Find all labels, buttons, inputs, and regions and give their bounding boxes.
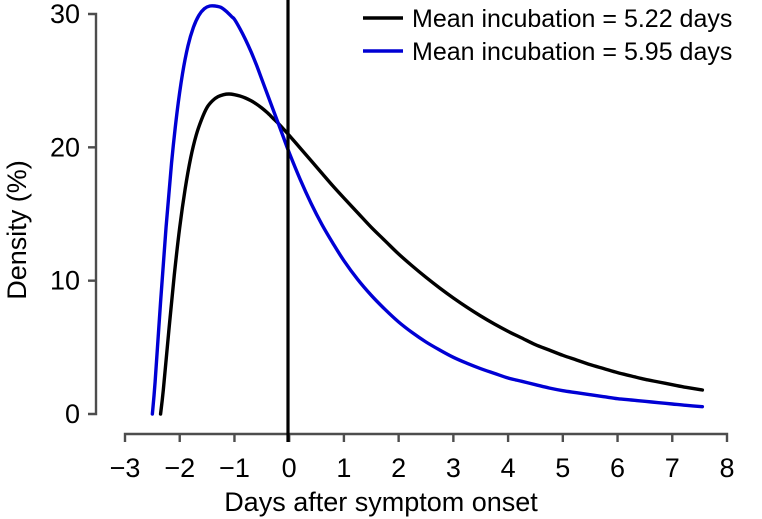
chart-canvas: 0102030 −3−2−1012345678 Days after sympt… — [0, 0, 762, 519]
y-axis-title: Density (%) — [2, 160, 32, 300]
x-axis-tick-label-0: 0 — [282, 453, 297, 483]
x-axis-tick-label--1: −1 — [219, 453, 250, 483]
x-axis-tick-label-1: 1 — [336, 453, 351, 483]
x-axis-tick-label--2: −2 — [164, 453, 195, 483]
x-axis-tick-label-8: 8 — [719, 453, 734, 483]
x-axis-tick-label-6: 6 — [610, 453, 625, 483]
legend-label-0: Mean incubation = 5.22 days — [412, 5, 732, 33]
x-axis-tick-label-4: 4 — [501, 453, 516, 483]
chart-background — [0, 0, 762, 519]
x-axis-title: Days after symptom onset — [224, 487, 538, 517]
y-axis-tick-label-30: 30 — [50, 0, 80, 29]
y-axis-tick-label-0: 0 — [65, 399, 80, 429]
y-axis-tick-label-10: 10 — [50, 266, 80, 296]
density-chart-figure: 0102030 −3−2−1012345678 Days after sympt… — [0, 0, 762, 519]
x-axis-tick-label-7: 7 — [665, 453, 680, 483]
x-axis-tick-label-3: 3 — [446, 453, 461, 483]
x-axis-tick-label-5: 5 — [555, 453, 570, 483]
x-axis-tick-label-2: 2 — [391, 453, 406, 483]
x-axis-tick-label--3: −3 — [110, 453, 141, 483]
y-axis-tick-label-20: 20 — [50, 132, 80, 162]
legend-label-1: Mean incubation = 5.95 days — [412, 38, 732, 66]
